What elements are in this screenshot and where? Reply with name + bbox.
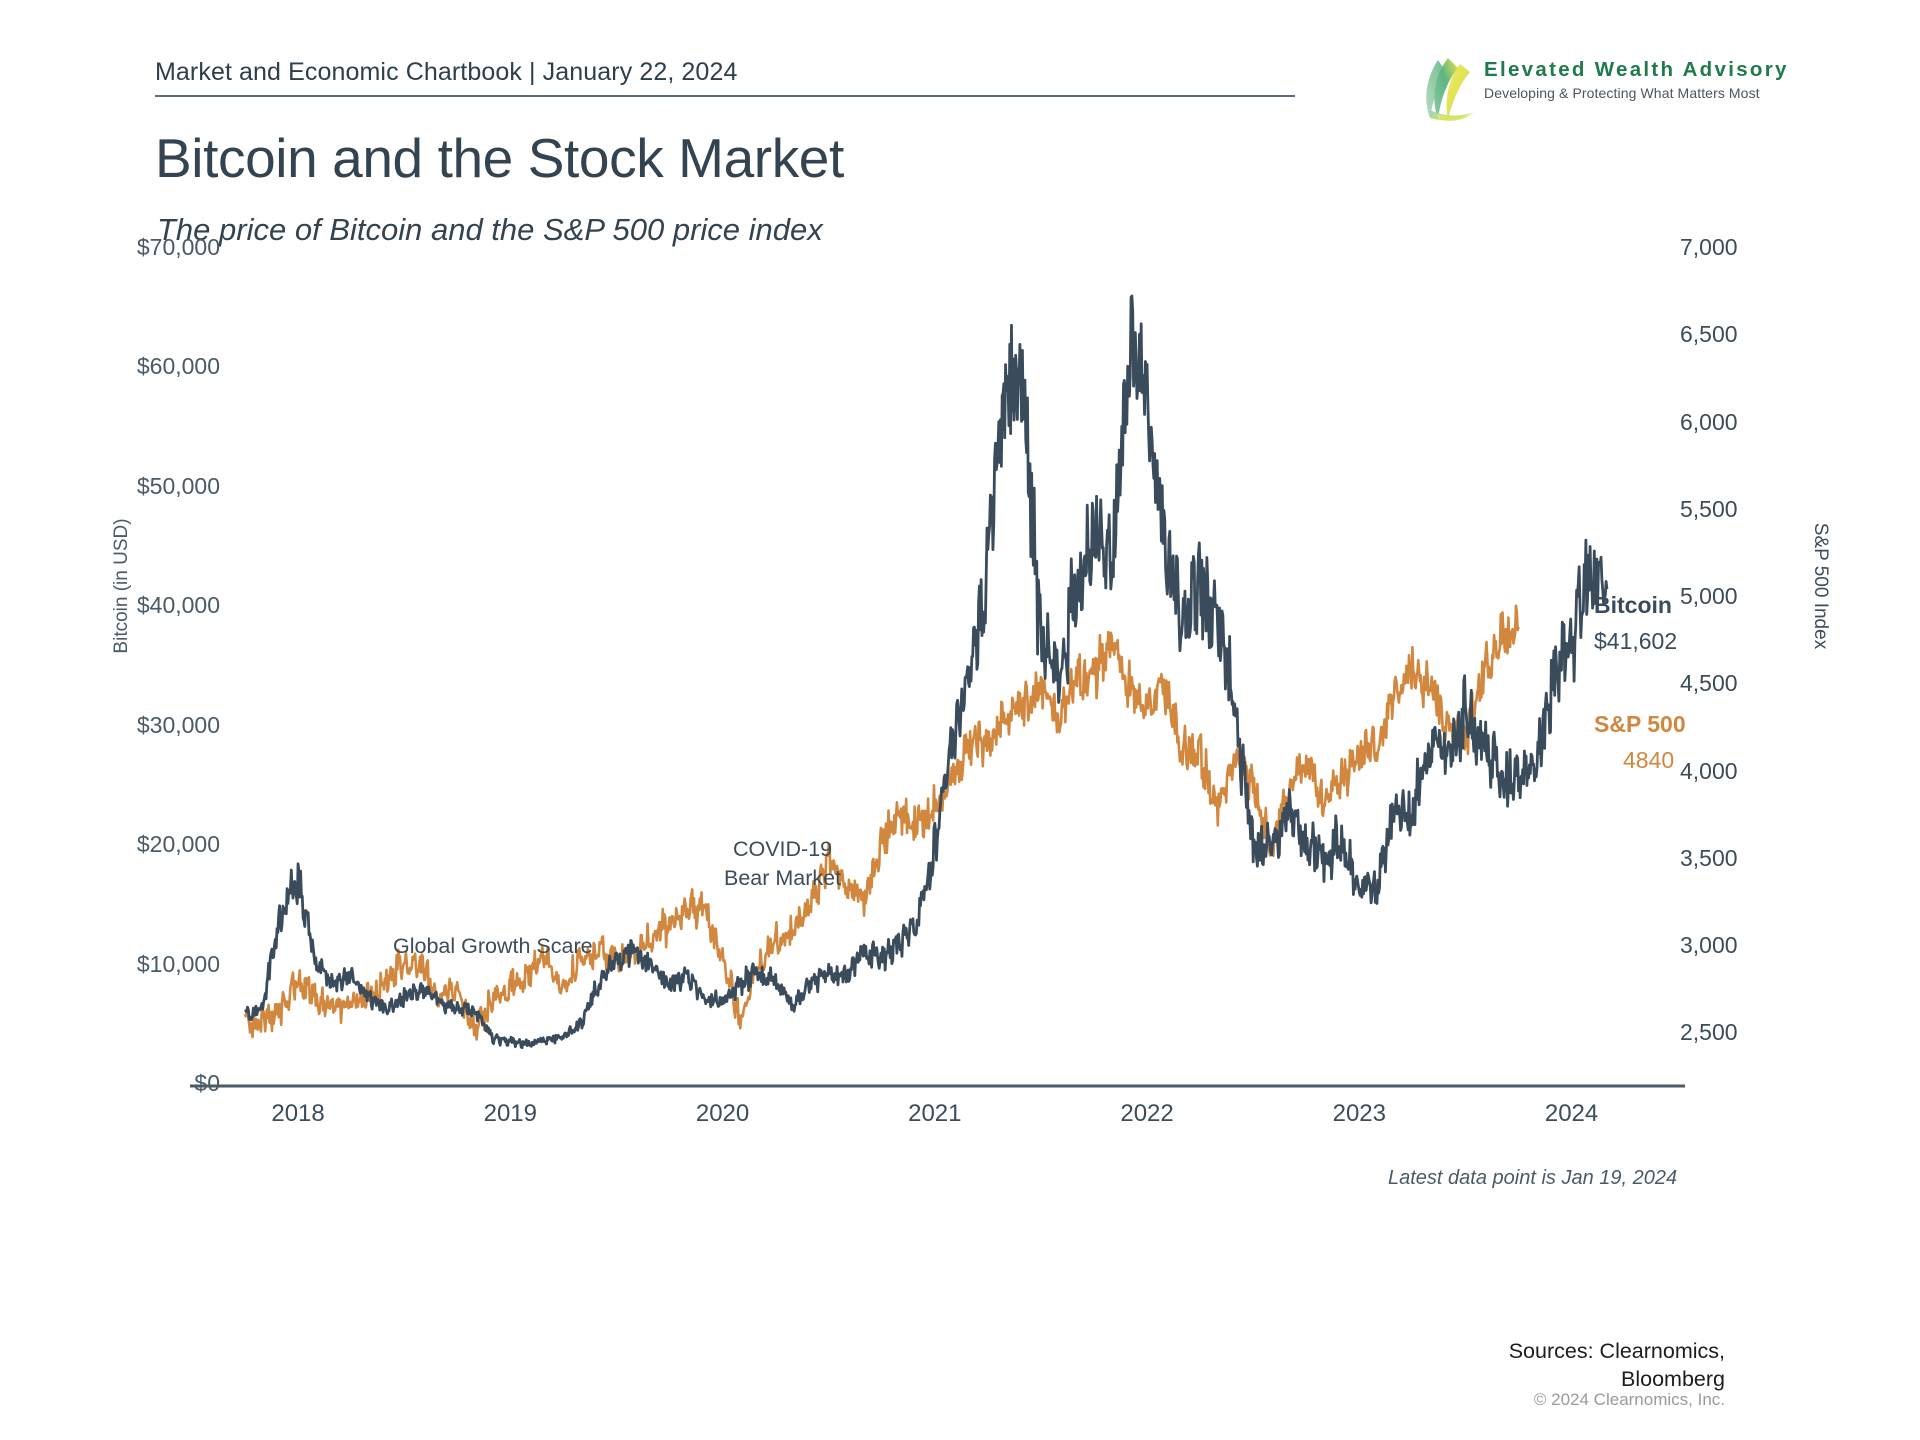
sources-line-2: Bloomberg <box>1509 1366 1725 1394</box>
y-axis-left-tick: $20,000 <box>100 831 220 858</box>
leaf-flame-icon <box>1418 52 1480 122</box>
y-axis-left-tick: $10,000 <box>100 951 220 978</box>
legend-bitcoin-value: $41,602 <box>1594 628 1677 655</box>
y-axis-left-tick: $60,000 <box>100 353 220 380</box>
annotation-global-growth-scare: Global Growth Scare <box>393 932 593 961</box>
y-axis-right-tick: 4,500 <box>1680 670 1800 697</box>
y-axis-right-tick: 4,000 <box>1680 758 1800 785</box>
y-axis-right-tick: 6,000 <box>1680 409 1800 436</box>
x-axis-tick: 2020 <box>663 1100 783 1128</box>
brand-logo: Elevated Wealth Advisory Developing & Pr… <box>1418 50 1758 124</box>
y-axis-right-tick: 5,500 <box>1680 496 1800 523</box>
y-axis-right-tick: 3,000 <box>1680 932 1800 959</box>
copyright-note: © 2024 Clearnomics, Inc. <box>1534 1390 1725 1410</box>
chartbook-label: Market and Economic Chartbook | January … <box>155 58 1295 87</box>
legend-spx-name: S&P 500 <box>1594 711 1686 738</box>
x-axis-tick: 2018 <box>238 1100 358 1128</box>
annotation-covid-line1: COVID-19 <box>724 835 841 864</box>
sources-note: Sources: Clearnomics, Bloomberg <box>1509 1338 1725 1393</box>
y-axis-left-tick: $0 <box>100 1070 220 1097</box>
page-title: Bitcoin and the Stock Market <box>155 126 844 190</box>
latest-data-note: Latest data point is Jan 19, 2024 <box>1388 1167 1677 1190</box>
logo-tagline: Developing & Protecting What Matters Mos… <box>1484 85 1789 101</box>
y-axis-left-title: Bitcoin (in USD) <box>111 456 133 716</box>
annotation-covid-bear-market: COVID-19 Bear Market <box>724 835 841 892</box>
x-axis-tick: 2022 <box>1087 1100 1207 1128</box>
y-axis-left-tick: $70,000 <box>100 234 220 261</box>
y-axis-right-tick: 2,500 <box>1680 1019 1800 1046</box>
legend-spx-value: 4840 <box>1623 747 1674 774</box>
y-axis-right-tick: 7,000 <box>1680 234 1800 261</box>
page-subtitle: The price of Bitcoin and the S&P 500 pri… <box>157 212 823 248</box>
y-axis-right-title: S&P 500 Index <box>1809 456 1831 716</box>
x-axis-tick: 2024 <box>1512 1100 1632 1128</box>
y-axis-right-tick: 3,500 <box>1680 845 1800 872</box>
y-axis-right-tick: 6,500 <box>1680 321 1800 348</box>
x-axis-tick: 2023 <box>1299 1100 1419 1128</box>
header-bar: Market and Economic Chartbook | January … <box>155 58 1295 97</box>
series-line-spx <box>245 606 1519 1040</box>
y-axis-right-tick: 5,000 <box>1680 583 1800 610</box>
logo-text-block: Elevated Wealth Advisory Developing & Pr… <box>1484 58 1789 101</box>
x-axis-tick: 2019 <box>450 1100 570 1128</box>
annotation-covid-line2: Bear Market <box>724 864 841 893</box>
legend-bitcoin-name: Bitcoin <box>1594 592 1672 619</box>
sources-line-1: Sources: Clearnomics, <box>1509 1338 1725 1366</box>
header-divider <box>155 95 1295 97</box>
x-axis-tick: 2021 <box>875 1100 995 1128</box>
logo-company-name: Elevated Wealth Advisory <box>1484 58 1789 82</box>
